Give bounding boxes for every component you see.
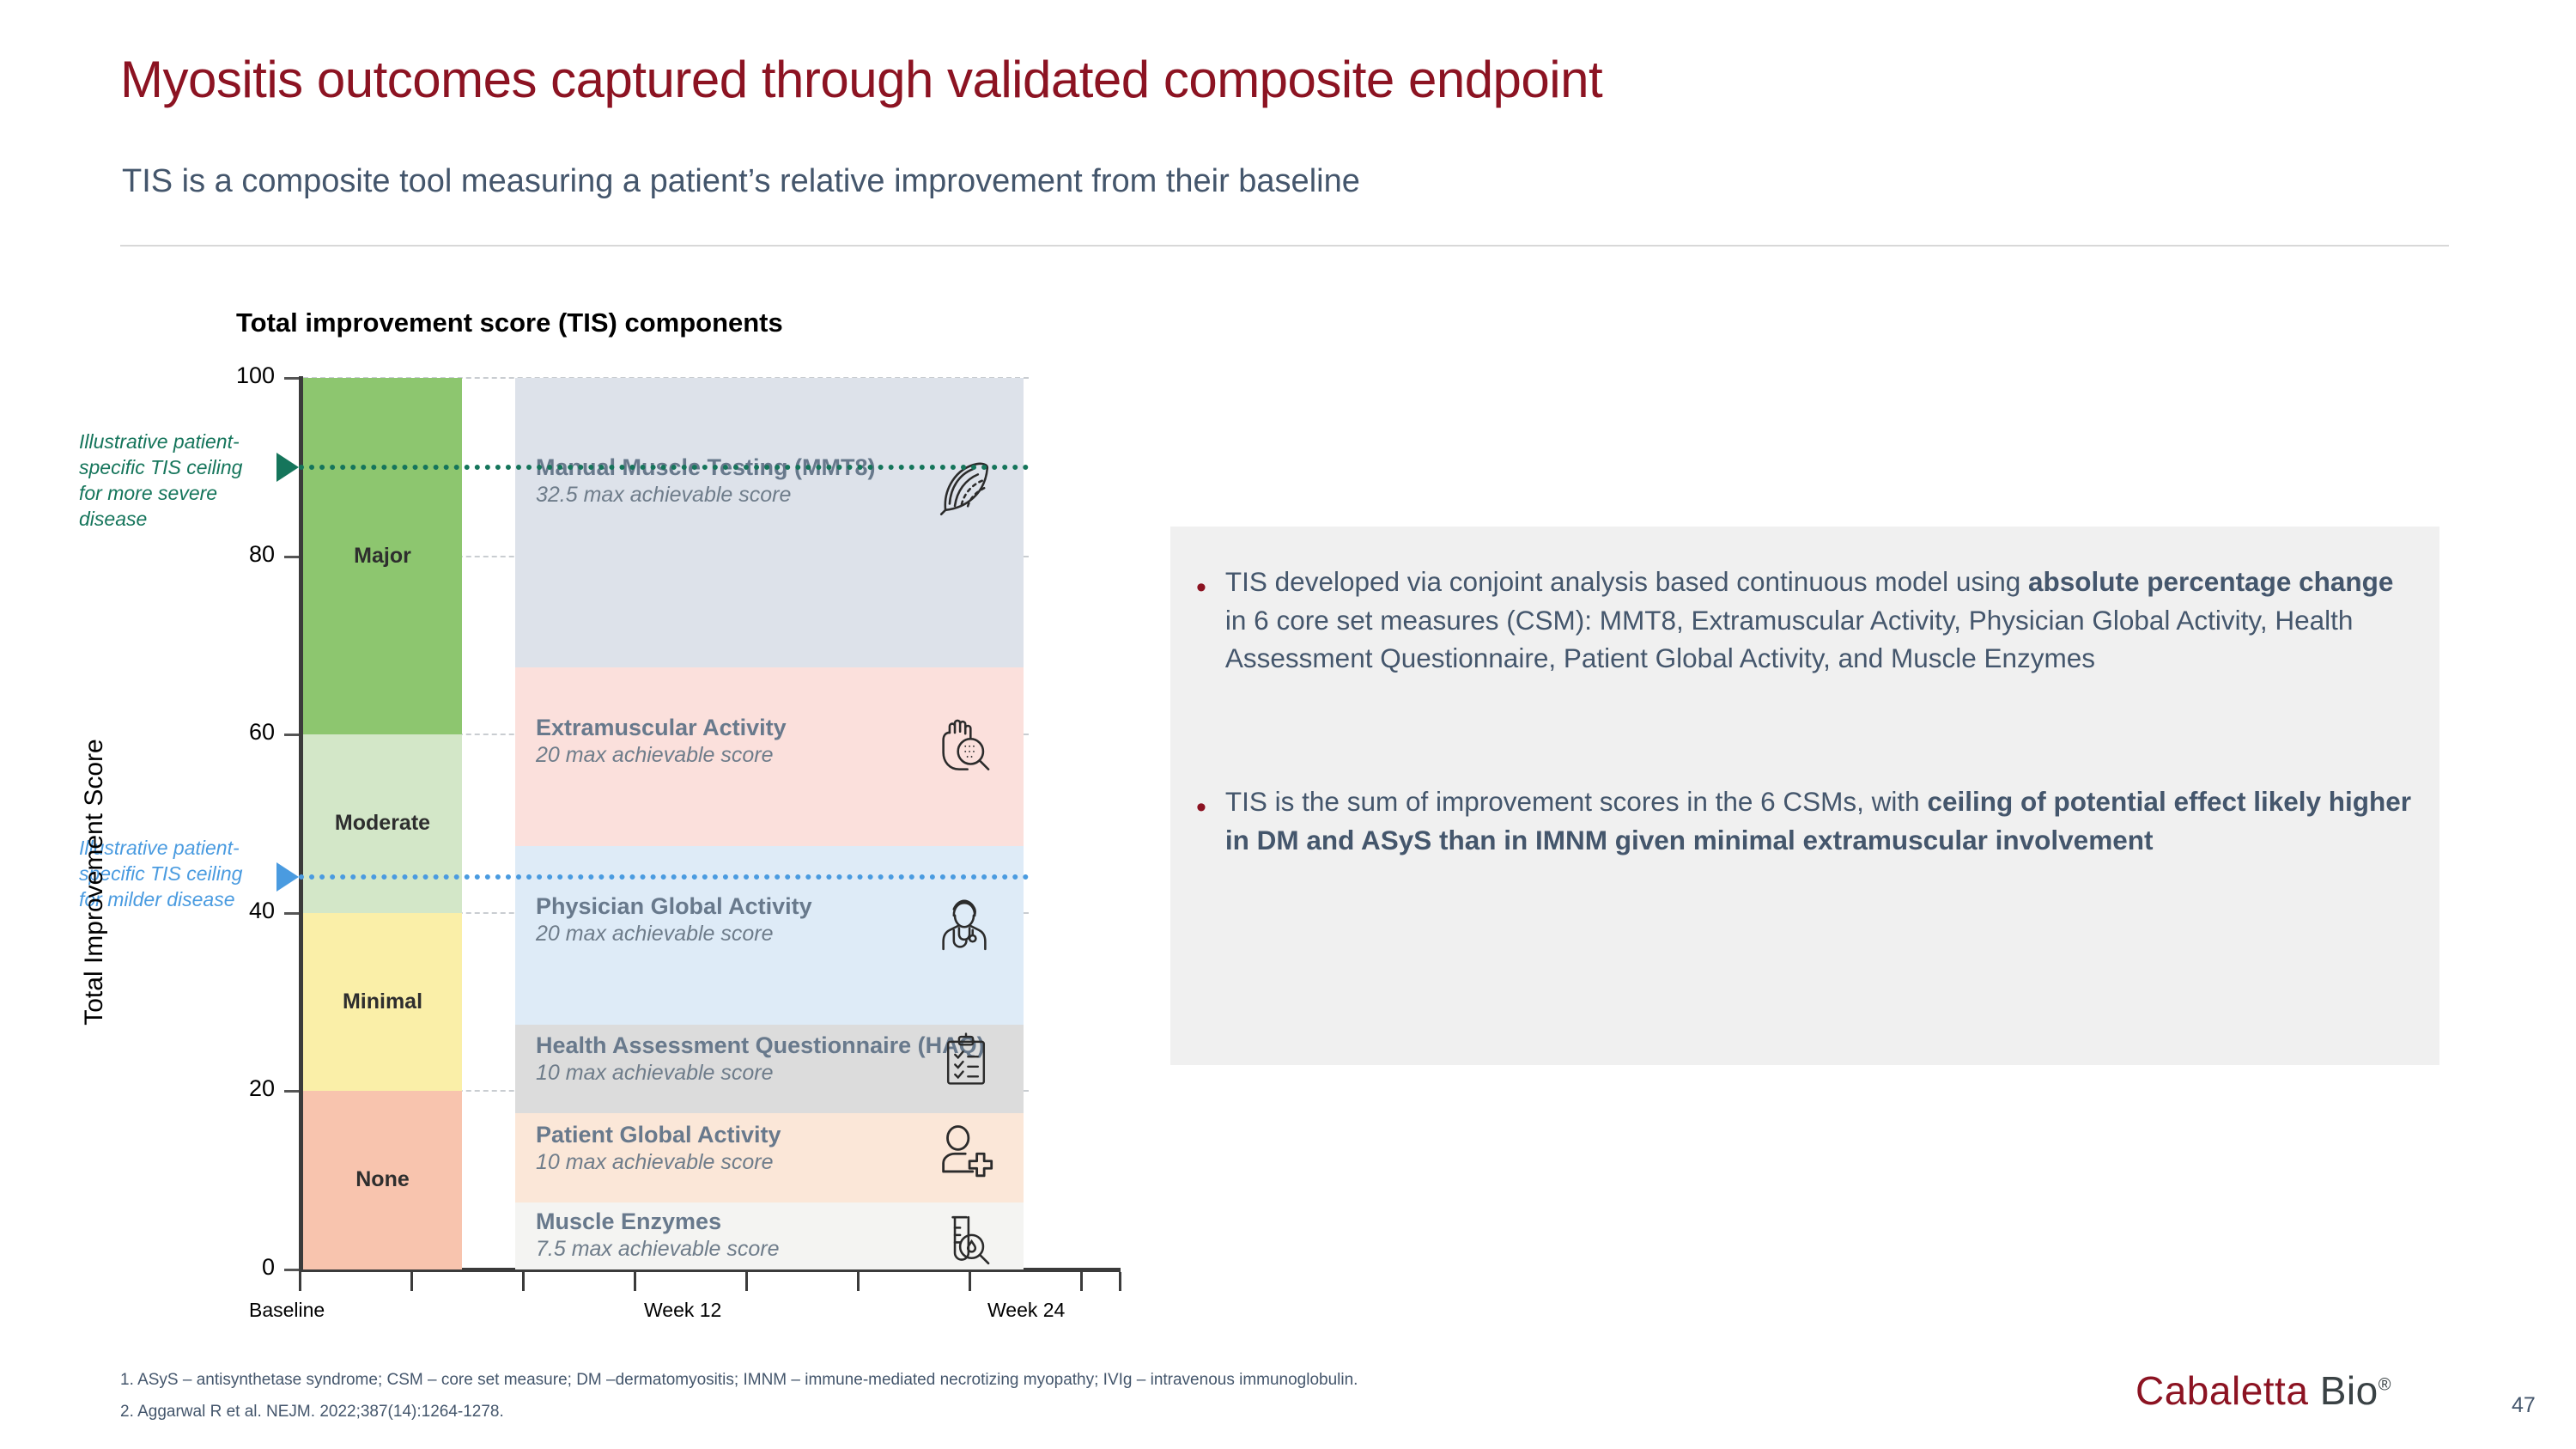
x-tick-mark bbox=[1119, 1272, 1121, 1291]
y-tick-mark bbox=[284, 556, 299, 558]
x-axis-label: Baseline bbox=[249, 1299, 325, 1322]
component-score: 10 max achievable score bbox=[536, 1060, 985, 1087]
y-tick-mark bbox=[284, 1269, 299, 1271]
annotation-milder-ceiling-arrow-icon bbox=[276, 862, 299, 892]
annotation-severe-ceiling-label: Illustrative patient-specific TIS ceilin… bbox=[79, 429, 264, 533]
component-block: Health Assessment Questionnaire (HAQ)10 … bbox=[515, 1025, 1024, 1114]
component-score: 20 max achievable score bbox=[536, 742, 787, 769]
component-block: Physician Global Activity20 max achievab… bbox=[515, 846, 1024, 1025]
component-block: Patient Global Activity10 max achievable… bbox=[515, 1113, 1024, 1202]
component-score: 20 max achievable score bbox=[536, 921, 812, 947]
x-axis-label: Week 12 bbox=[644, 1299, 721, 1322]
hand-magnifier-icon bbox=[931, 714, 998, 785]
bullet-text: TIS developed via conjoint analysis base… bbox=[1225, 563, 2415, 678]
annotation-milder-ceiling-leader-line bbox=[299, 874, 1029, 880]
y-tick-mark bbox=[284, 912, 299, 915]
cabaletta-bio-logo: Cabaletta Bio® bbox=[2136, 1367, 2391, 1414]
annotation-severe-ceiling-leader-line bbox=[299, 465, 1029, 470]
severity-band-label: Moderate bbox=[303, 811, 462, 836]
header-divider bbox=[120, 245, 2449, 247]
bullet-item: •TIS developed via conjoint analysis bas… bbox=[1196, 563, 2415, 678]
page-title: Myositis outcomes captured through valid… bbox=[120, 50, 1602, 109]
footnote-2: 2. Aggarwal R et al. NEJM. 2022;387(14):… bbox=[120, 1403, 504, 1422]
footnote-1: 1. ASyS – antisynthetase syndrome; CSM –… bbox=[120, 1371, 1358, 1390]
component-name: Health Assessment Questionnaire (HAQ) bbox=[536, 1032, 985, 1060]
y-tick-mark bbox=[284, 1090, 299, 1093]
y-tick-label: 80 bbox=[197, 541, 275, 568]
y-tick-label: 60 bbox=[197, 719, 275, 746]
severity-band-label: None bbox=[303, 1167, 462, 1192]
y-tick-label: 20 bbox=[197, 1075, 275, 1102]
bullet-item: •TIS is the sum of improvement scores in… bbox=[1196, 782, 2415, 859]
clipboard-checklist-icon bbox=[934, 1030, 998, 1098]
bullet-point-icon: • bbox=[1196, 793, 1206, 822]
x-tick-mark bbox=[1080, 1272, 1083, 1291]
x-tick-mark bbox=[969, 1272, 971, 1291]
x-tick-mark bbox=[857, 1272, 860, 1291]
component-name: Extramuscular Activity bbox=[536, 714, 787, 742]
insights-panel: •TIS developed via conjoint analysis bas… bbox=[1170, 527, 2439, 1065]
component-score: 32.5 max achievable score bbox=[536, 482, 876, 508]
x-tick-mark bbox=[522, 1272, 525, 1291]
component-name: Patient Global Activity bbox=[536, 1121, 781, 1149]
x-tick-mark bbox=[299, 1272, 301, 1291]
severity-band-label: Minimal bbox=[303, 989, 462, 1014]
y-axis-title: Total Improvement Score bbox=[80, 693, 109, 1071]
bullet-text: TIS is the sum of improvement scores in … bbox=[1225, 782, 2415, 859]
logo-word-bio: Bio bbox=[2320, 1368, 2379, 1413]
y-tick-label: 100 bbox=[197, 362, 275, 389]
component-name: Muscle Enzymes bbox=[536, 1208, 779, 1236]
component-score: 10 max achievable score bbox=[536, 1149, 781, 1176]
y-tick-mark bbox=[284, 734, 299, 736]
doctor-icon bbox=[931, 892, 998, 964]
page-number: 47 bbox=[2512, 1393, 2536, 1418]
bullet-point-icon: • bbox=[1196, 573, 1206, 602]
component-block: Extramuscular Activity20 max achievable … bbox=[515, 667, 1024, 846]
y-tick-mark bbox=[284, 377, 299, 380]
severity-band-label: Major bbox=[303, 544, 462, 569]
registered-trademark-icon: ® bbox=[2379, 1376, 2391, 1395]
annotation-severe-ceiling-arrow-icon bbox=[276, 453, 299, 482]
component-block: Manual Muscle Testing (MMT8)32.5 max ach… bbox=[515, 378, 1024, 667]
x-axis-label: Week 24 bbox=[987, 1299, 1065, 1322]
test-tube-magnifier-icon bbox=[931, 1207, 998, 1269]
chart-title: Total improvement score (TIS) components bbox=[236, 307, 783, 338]
component-score: 7.5 max achievable score bbox=[536, 1236, 779, 1263]
x-tick-mark bbox=[634, 1272, 636, 1291]
logo-word-cabaletta: Cabaletta bbox=[2136, 1368, 2308, 1413]
y-tick-label: 0 bbox=[197, 1254, 275, 1281]
page-subtitle: TIS is a composite tool measuring a pati… bbox=[122, 163, 1360, 200]
x-tick-mark bbox=[745, 1272, 748, 1291]
component-name: Physician Global Activity bbox=[536, 892, 812, 921]
x-tick-mark bbox=[410, 1272, 413, 1291]
patient-plus-icon bbox=[931, 1119, 998, 1190]
component-block: Muscle Enzymes7.5 max achievable score bbox=[515, 1202, 1024, 1269]
